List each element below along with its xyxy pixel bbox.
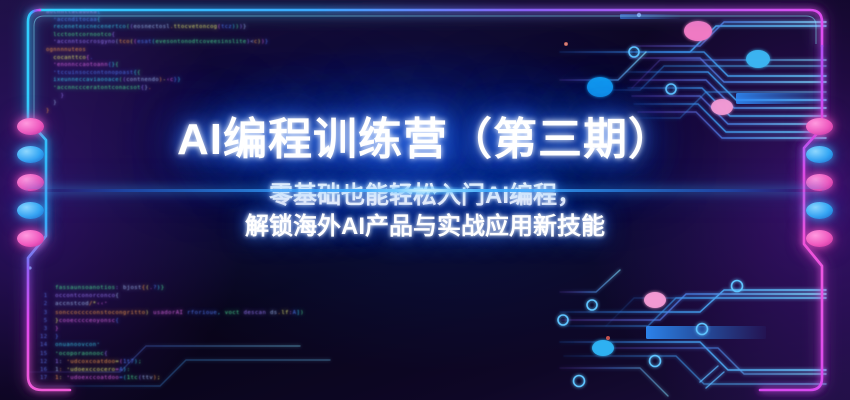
subtitle-line-2: 解锁海外AI产品与实战应用新技能 <box>245 212 605 241</box>
title-divider <box>28 189 822 192</box>
title-block: AI编程训练营（第三期） 零基础也能轻松入门AI编程， 解锁海外AI产品与实战应… <box>0 0 850 400</box>
page-title: AI编程训练营（第三期） <box>177 118 673 162</box>
banner-root: aocnnttacadoka{ ⁺accnditocaa{ recenetesc… <box>0 0 850 400</box>
